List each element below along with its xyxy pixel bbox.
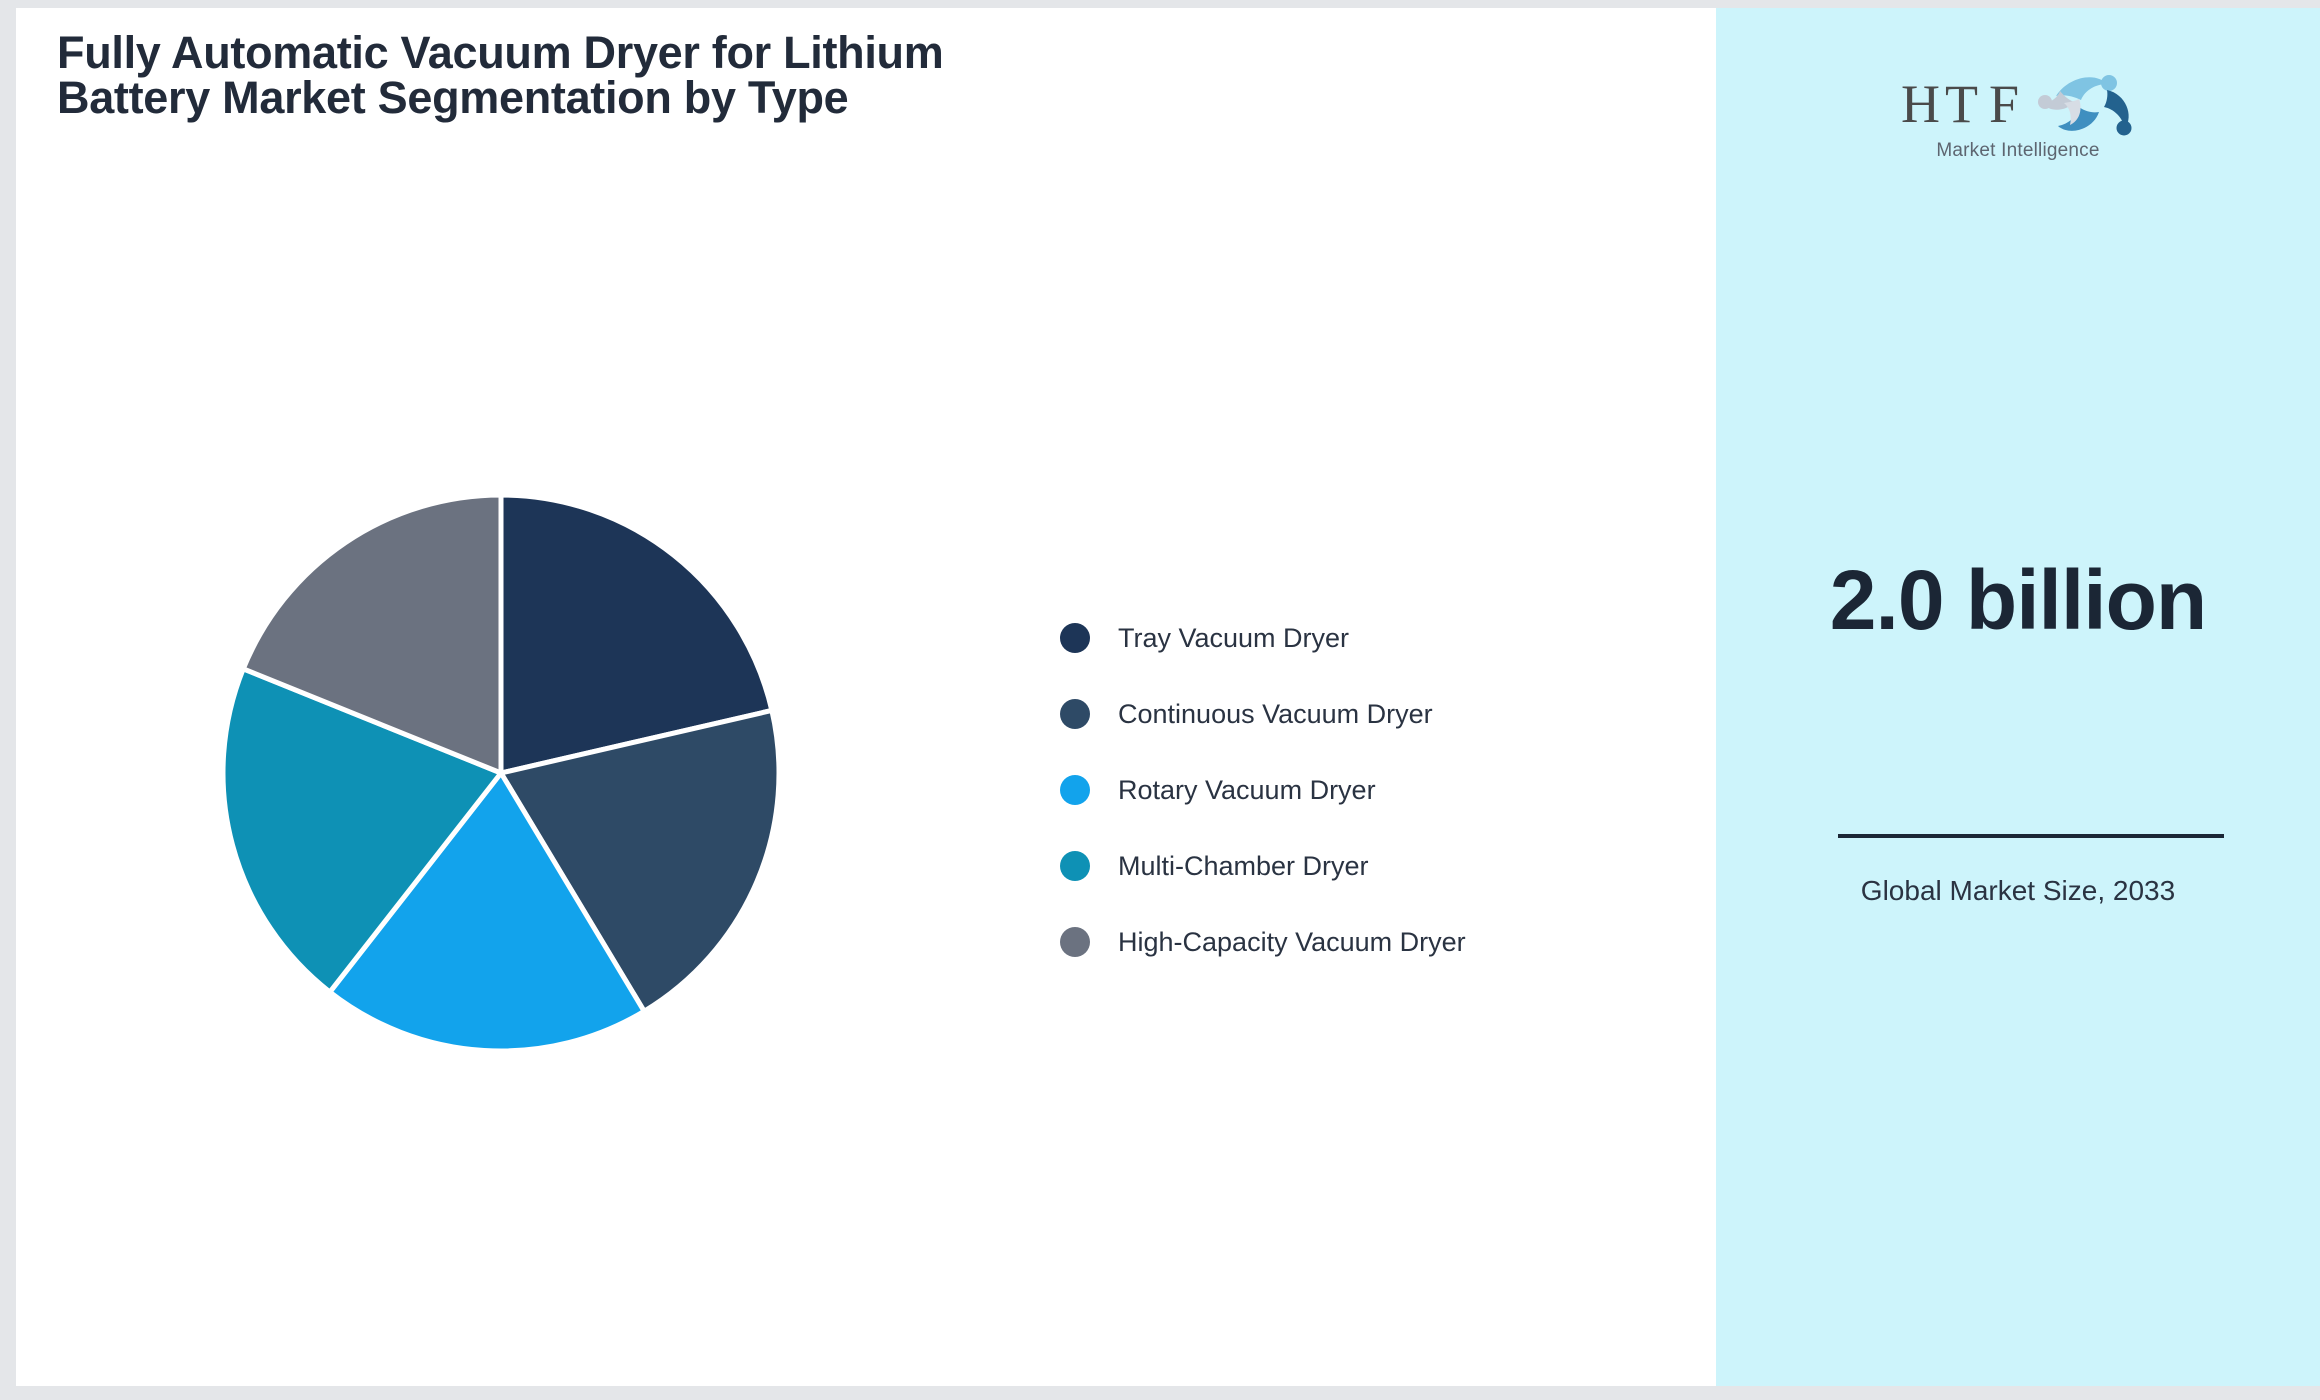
infographic-page: Fully Automatic Vacuum Dryer for Lithium…	[0, 0, 2320, 1400]
chart-legend: Tray Vacuum Dryer Continuous Vacuum Drye…	[1060, 600, 1680, 980]
legend-item-label: Continuous Vacuum Dryer	[1118, 701, 1433, 728]
stat-divider	[1838, 834, 2224, 838]
legend-item-4[interactable]: High-Capacity Vacuum Dryer	[1060, 904, 1680, 980]
legend-item-1[interactable]: Continuous Vacuum Dryer	[1060, 676, 1680, 752]
chart-panel: Fully Automatic Vacuum Dryer for Lithium…	[16, 8, 1716, 1386]
legend-item-label: Rotary Vacuum Dryer	[1118, 777, 1376, 804]
pie-slice-group	[223, 495, 779, 1051]
legend-dot-icon	[1060, 851, 1090, 881]
legend-item-3[interactable]: Multi-Chamber Dryer	[1060, 828, 1680, 904]
legend-dot-icon	[1060, 623, 1090, 653]
stat-value: 2.0 billion	[1778, 556, 2258, 645]
legend-item-label: Tray Vacuum Dryer	[1118, 625, 1349, 652]
pie-chart	[191, 463, 811, 1083]
legend-item-label: High-Capacity Vacuum Dryer	[1118, 929, 1466, 956]
legend-item-2[interactable]: Rotary Vacuum Dryer	[1060, 752, 1680, 828]
legend-dot-icon	[1060, 699, 1090, 729]
page-title: Fully Automatic Vacuum Dryer for Lithium…	[57, 30, 1017, 120]
stat-block: 2.0 billion Global Market Size, 2033	[1716, 8, 2320, 1386]
pie-chart-svg	[191, 463, 811, 1083]
legend-item-label: Multi-Chamber Dryer	[1118, 853, 1369, 880]
content-card: Fully Automatic Vacuum Dryer for Lithium…	[16, 8, 2320, 1386]
legend-dot-icon	[1060, 775, 1090, 805]
stat-caption: Global Market Size, 2033	[1798, 874, 2238, 907]
legend-item-0[interactable]: Tray Vacuum Dryer	[1060, 600, 1680, 676]
stat-panel: H T F Marke	[1716, 8, 2320, 1386]
legend-dot-icon	[1060, 927, 1090, 957]
